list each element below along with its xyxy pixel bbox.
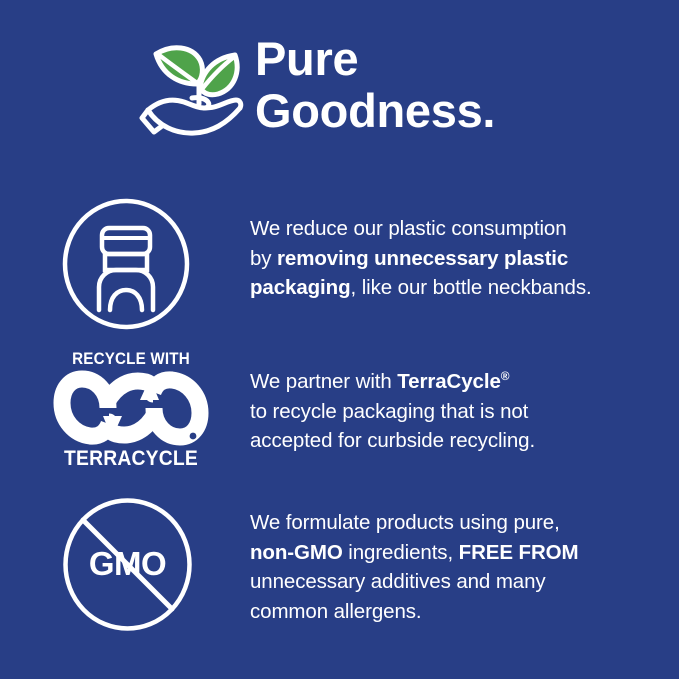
terracycle-bottom-label: TERRACYCLE: [64, 447, 198, 471]
text-line: non-GMO ingredients, FREE FROM: [250, 538, 670, 568]
text-line: to recycle packaging that is not: [250, 397, 670, 427]
benefit-text-terracycle: We partner with TerraCycle® to recycle p…: [250, 367, 670, 456]
header: Pure Goodness.: [0, 0, 679, 178]
gmo-badge-label: GMO: [61, 545, 194, 583]
registered-trademark: ®: [501, 369, 510, 383]
no-gmo-circle-icon: GMO: [61, 498, 194, 631]
benefit-text-gmo: We formulate products using pure, non-GM…: [250, 508, 670, 626]
pure-goodness-infographic: Pure Goodness. We reduce our plastic con…: [0, 0, 679, 679]
page-title-line-2: Goodness.: [255, 85, 655, 137]
terracycle-top-label: RECYCLE WITH: [64, 350, 198, 369]
bottle-neckband-circle-icon: [61, 197, 191, 331]
hand-holding-sprout-icon: [142, 32, 250, 138]
text-line: We formulate products using pure,: [250, 508, 670, 538]
benefit-text-plastic: We reduce our plastic consumption by rem…: [250, 214, 670, 303]
benefit-row-terracycle: RECYCLE WITH: [0, 345, 679, 485]
text-line: unnecessary additives and many: [250, 567, 670, 597]
terracycle-logo-icon: RECYCLE WITH: [58, 350, 204, 472]
text-line: common allergens.: [250, 597, 670, 627]
terracycle-infinity-mark-icon: [60, 372, 202, 444]
text-line: We reduce our plastic consumption: [250, 214, 670, 244]
text-line: accepted for curbside recycling.: [250, 426, 670, 456]
page-title: Pure Goodness.: [255, 33, 655, 137]
text-line: packaging, like our bottle neckbands.: [250, 273, 670, 303]
benefit-row-plastic: We reduce our plastic consumption by rem…: [0, 190, 679, 340]
text-line: We partner with TerraCycle®: [250, 367, 670, 397]
text-line: by removing unnecessary plastic: [250, 244, 670, 274]
benefit-row-gmo: GMO We formulate products using pure, no…: [0, 492, 679, 652]
page-title-line-1: Pure: [255, 33, 655, 85]
